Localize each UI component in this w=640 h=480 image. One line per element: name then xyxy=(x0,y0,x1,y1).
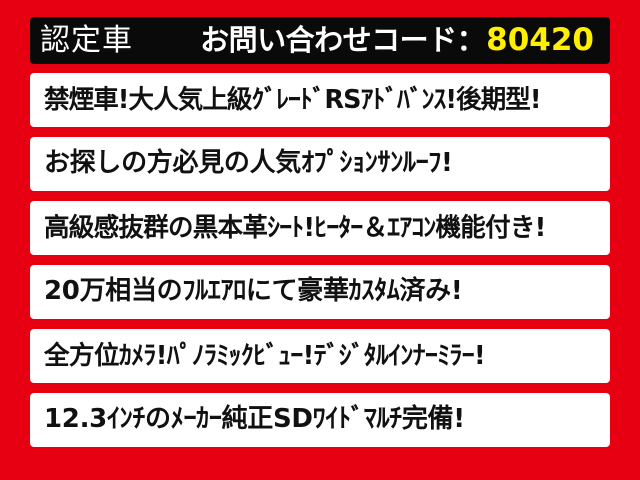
inquiry-code-value: 80420 xyxy=(486,25,594,56)
feature-row: 20万相当のﾌﾙｴｱﾛにて豪華ｶｽﾀﾑ済み! xyxy=(30,265,610,319)
feature-text: 全方位ｶﾒﾗ!ﾊﾟﾉﾗﾐｯｸﾋﾞｭｰ!ﾃﾞｼﾞﾀﾙｲﾝﾅｰﾐﾗｰ! xyxy=(44,343,485,370)
feature-text: 12.3ｲﾝﾁのﾒｰｶｰ純正SDﾜｲﾄﾞﾏﾙﾁ完備! xyxy=(44,406,465,433)
inquiry-code-group: お問い合わせコード： 80420 xyxy=(133,25,598,56)
feature-list: 禁煙車!大人気上級ｸﾞﾚｰﾄﾞRSｱﾄﾞﾊﾞﾝｽ!後期型! お探しの方必見の人気… xyxy=(30,73,610,457)
header-bar: 認定車 お問い合わせコード： 80420 xyxy=(30,17,610,64)
feature-text: お探しの方必見の人気ｵﾌﾟｼｮﾝｻﾝﾙｰﾌ! xyxy=(44,150,453,177)
feature-text: 高級感抜群の黒本革ｼｰﾄ!ﾋｰﾀｰ＆ｴｱｺﾝ機能付き! xyxy=(44,215,546,242)
certified-vehicle-badge: 認定車 xyxy=(40,26,133,56)
vehicle-promo-banner: 認定車 お問い合わせコード： 80420 禁煙車!大人気上級ｸﾞﾚｰﾄﾞRSｱﾄ… xyxy=(0,0,640,480)
feature-row: 高級感抜群の黒本革ｼｰﾄ!ﾋｰﾀｰ＆ｴｱｺﾝ機能付き! xyxy=(30,201,610,255)
inquiry-code-label: お問い合わせコード： xyxy=(200,26,485,55)
feature-row: 全方位ｶﾒﾗ!ﾊﾟﾉﾗﾐｯｸﾋﾞｭｰ!ﾃﾞｼﾞﾀﾙｲﾝﾅｰﾐﾗｰ! xyxy=(30,329,610,383)
feature-row: お探しの方必見の人気ｵﾌﾟｼｮﾝｻﾝﾙｰﾌ! xyxy=(30,137,610,191)
feature-text: 禁煙車!大人気上級ｸﾞﾚｰﾄﾞRSｱﾄﾞﾊﾞﾝｽ!後期型! xyxy=(44,87,541,114)
feature-row: 禁煙車!大人気上級ｸﾞﾚｰﾄﾞRSｱﾄﾞﾊﾞﾝｽ!後期型! xyxy=(30,73,610,127)
feature-text: 20万相当のﾌﾙｴｱﾛにて豪華ｶｽﾀﾑ済み! xyxy=(44,278,462,305)
feature-row: 12.3ｲﾝﾁのﾒｰｶｰ純正SDﾜｲﾄﾞﾏﾙﾁ完備! xyxy=(30,393,610,447)
